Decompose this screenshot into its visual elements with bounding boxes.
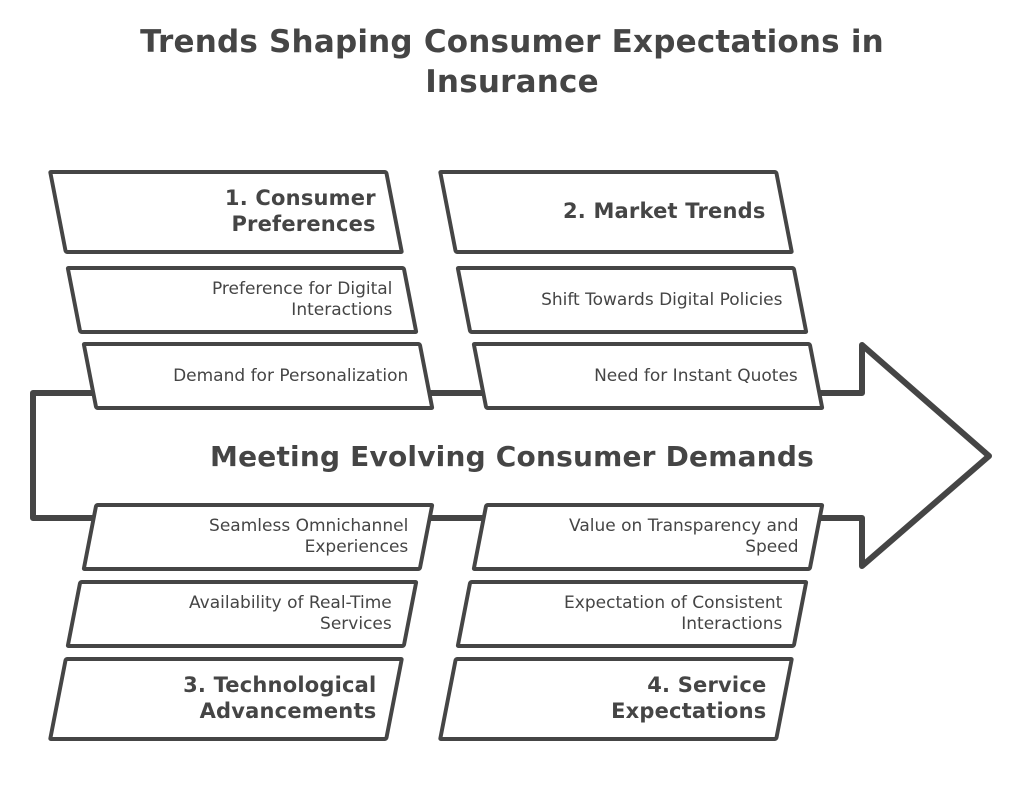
card-service-expectations-header[interactable]: 4. Service Expectations (438, 657, 794, 741)
card-need-instant-quotes[interactable]: Need for Instant Quotes (471, 342, 824, 410)
card-demand-personalization[interactable]: Demand for Personalization (81, 342, 434, 410)
card-text: Availability of Real-Time Services (175, 593, 408, 634)
card-availability-real-time-services[interactable]: Availability of Real-Time Services (65, 580, 418, 648)
card-market-trends-header[interactable]: 2. Market Trends (438, 170, 794, 254)
card-seamless-omnichannel-experiences[interactable]: Seamless Omnichannel Experiences (81, 503, 434, 571)
card-text: Expectation of Consistent Interactions (550, 593, 798, 634)
card-shift-towards-digital-policies[interactable]: Shift Towards Digital Policies (455, 266, 808, 334)
diagram-canvas: Trends Shaping Consumer Expectations in … (0, 0, 1024, 805)
card-preference-digital-interactions[interactable]: Preference for Digital Interactions (65, 266, 418, 334)
card-title: 4. Service Expectations (597, 673, 782, 724)
card-text: Need for Instant Quotes (580, 366, 814, 387)
card-text: Value on Transparency and Speed (555, 516, 814, 557)
card-title: 1. Consumer Preferences (211, 186, 392, 237)
card-title: 2. Market Trends (549, 199, 782, 225)
card-consumer-preferences-header[interactable]: 1. Consumer Preferences (48, 170, 404, 254)
card-technological-advancements-header[interactable]: 3. Technological Advancements (48, 657, 404, 741)
card-value-transparency-speed[interactable]: Value on Transparency and Speed (471, 503, 824, 571)
center-label: Meeting Evolving Consumer Demands (0, 440, 1024, 473)
card-text: Seamless Omnichannel Experiences (195, 516, 424, 557)
card-text: Shift Towards Digital Policies (527, 290, 798, 311)
card-expectation-consistent-interactions[interactable]: Expectation of Consistent Interactions (455, 580, 808, 648)
card-text: Demand for Personalization (159, 366, 424, 387)
card-text: Preference for Digital Interactions (198, 279, 408, 320)
card-title: 3. Technological Advancements (169, 673, 392, 724)
